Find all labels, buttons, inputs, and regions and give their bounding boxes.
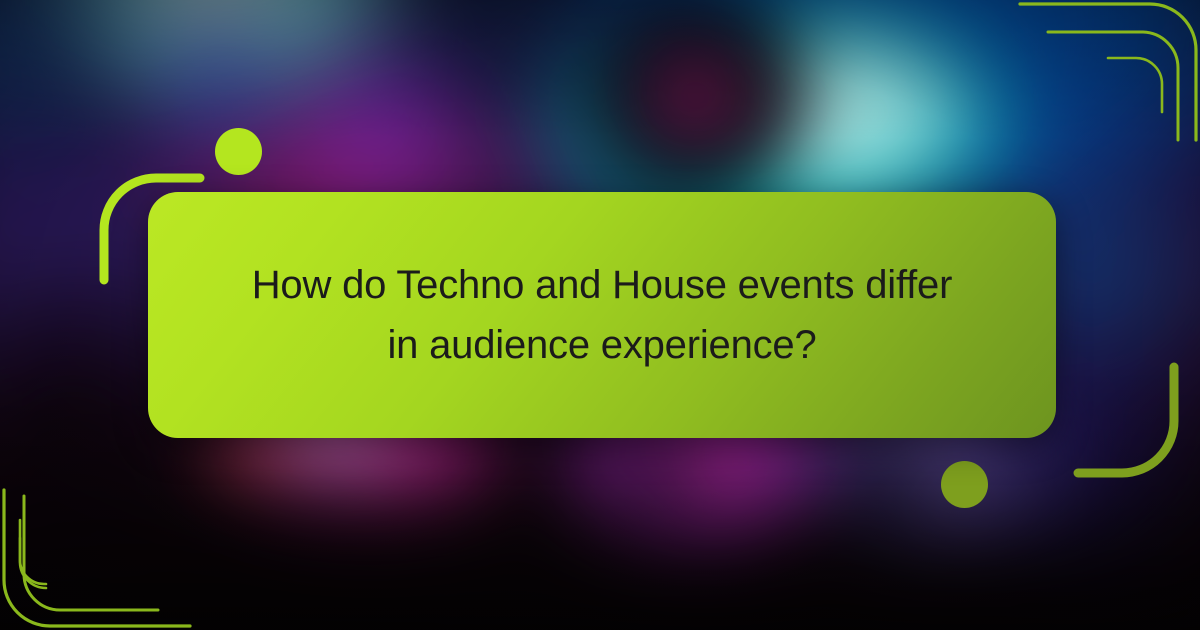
bottom-right-accent-dot-icon: [941, 461, 988, 508]
bottom-right-bracket-icon: [1068, 363, 1188, 513]
question-card: How do Techno and House events differ in…: [148, 192, 1056, 438]
poster-canvas: How do Techno and House events differ in…: [0, 0, 1200, 630]
top-left-accent-dot-icon: [215, 128, 262, 175]
question-text: How do Techno and House events differ in…: [212, 255, 992, 375]
